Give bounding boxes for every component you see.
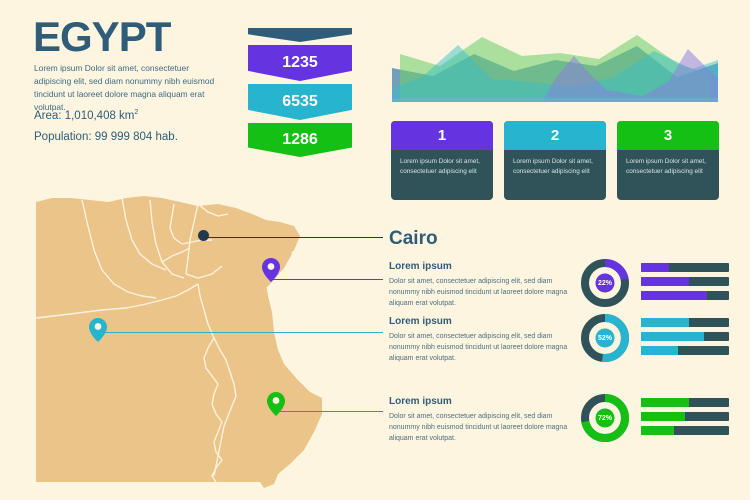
area-chart-baseline <box>392 98 718 102</box>
map-pin-green-icon[interactable] <box>267 392 285 416</box>
stat-population: Population: 99 999 804 hab. <box>34 131 178 143</box>
funnel-band-2: 6535 <box>248 84 352 120</box>
country-description: Lorem ipsum Dolor sit amet, consectetuer… <box>34 62 219 114</box>
city-title: Cairo <box>389 228 438 250</box>
card-1[interactable]: 1 Lorem ipsum Dolor sit amet, consectetu… <box>391 121 493 200</box>
card-2-number: 2 <box>504 121 606 150</box>
connector-line-green <box>275 411 383 412</box>
card-2[interactable]: 2 Lorem ipsum Dolor sit amet, consectetu… <box>504 121 606 200</box>
cairo-marker-dot-icon[interactable] <box>198 230 209 241</box>
bar-group-1 <box>641 263 729 305</box>
bar-2-1 <box>641 318 729 327</box>
detail-row-1-text: Dolor sit amet, consectetuer adipiscing … <box>389 276 571 309</box>
detail-row-3-text: Dolor sit amet, consectetuer adipiscing … <box>389 411 571 444</box>
bar-group-2 <box>641 318 729 360</box>
map-pin-purple-icon[interactable] <box>262 258 280 282</box>
egypt-landmass <box>36 196 322 488</box>
bar-group-3 <box>641 398 729 440</box>
card-1-text: Lorem ipsum Dolor sit amet, consectetuer… <box>391 150 493 178</box>
stat-population-value: 99 999 804 hab. <box>95 131 178 143</box>
bar-2-3 <box>641 346 729 355</box>
bar-2-2 <box>641 332 729 341</box>
bar-1-2 <box>641 277 729 286</box>
funnel-band-3: 1286 <box>248 123 352 157</box>
donut-chart-1: 22% <box>579 257 631 309</box>
stat-area-unit-exponent: 2 <box>134 109 138 116</box>
donut-chart-1-label: 22% <box>579 257 631 309</box>
area-chart-svg <box>392 32 718 102</box>
bar-1-1 <box>641 263 729 272</box>
mountain-area-chart <box>392 32 718 102</box>
detail-row-2-text: Dolor sit amet, consectetuer adipiscing … <box>389 331 571 364</box>
bar-1-3 <box>641 291 729 300</box>
connector-line-cairo <box>205 237 383 238</box>
stat-population-label: Population: <box>34 131 92 143</box>
card-3[interactable]: 3 Lorem ipsum Dolor sit amet, consectetu… <box>617 121 719 200</box>
bar-3-1 <box>641 398 729 407</box>
detail-row-1: Lorem ipsum Dolor sit amet, consectetuer… <box>389 261 729 309</box>
map-pin-cyan-icon[interactable] <box>89 318 107 342</box>
page-title: EGYPT <box>33 16 170 58</box>
donut-chart-3-label: 72% <box>579 392 631 444</box>
stat-area-value: 1,010,408 km <box>65 110 135 122</box>
card-3-text: Lorem ipsum Dolor sit amet, consectetuer… <box>617 150 719 178</box>
bar-3-2 <box>641 412 729 421</box>
bar-3-3 <box>641 426 729 435</box>
detail-row-2: Lorem ipsum Dolor sit amet, consectetuer… <box>389 316 729 364</box>
chevron-funnel-chart: 1235 6535 1286 <box>248 28 352 152</box>
stat-area-label: Area: <box>34 110 62 122</box>
card-2-text: Lorem ipsum Dolor sit amet, consectetuer… <box>504 150 606 178</box>
card-3-number: 3 <box>617 121 719 150</box>
numbered-cards: 1 Lorem ipsum Dolor sit amet, consectetu… <box>391 121 719 200</box>
donut-chart-3: 72% <box>579 392 631 444</box>
connector-line-cyan <box>97 332 383 333</box>
connector-line-purple <box>270 279 383 280</box>
funnel-band-1: 1235 <box>248 45 352 81</box>
donut-chart-2: 52% <box>579 312 631 364</box>
stat-area: Area: 1,010,408 km2 <box>34 109 138 122</box>
donut-chart-2-label: 52% <box>579 312 631 364</box>
detail-row-3: Lorem ipsum Dolor sit amet, consectetuer… <box>389 396 729 444</box>
card-1-number: 1 <box>391 121 493 150</box>
funnel-band-0 <box>248 28 352 42</box>
infographic-canvas: EGYPT Lorem ipsum Dolor sit amet, consec… <box>0 0 750 500</box>
